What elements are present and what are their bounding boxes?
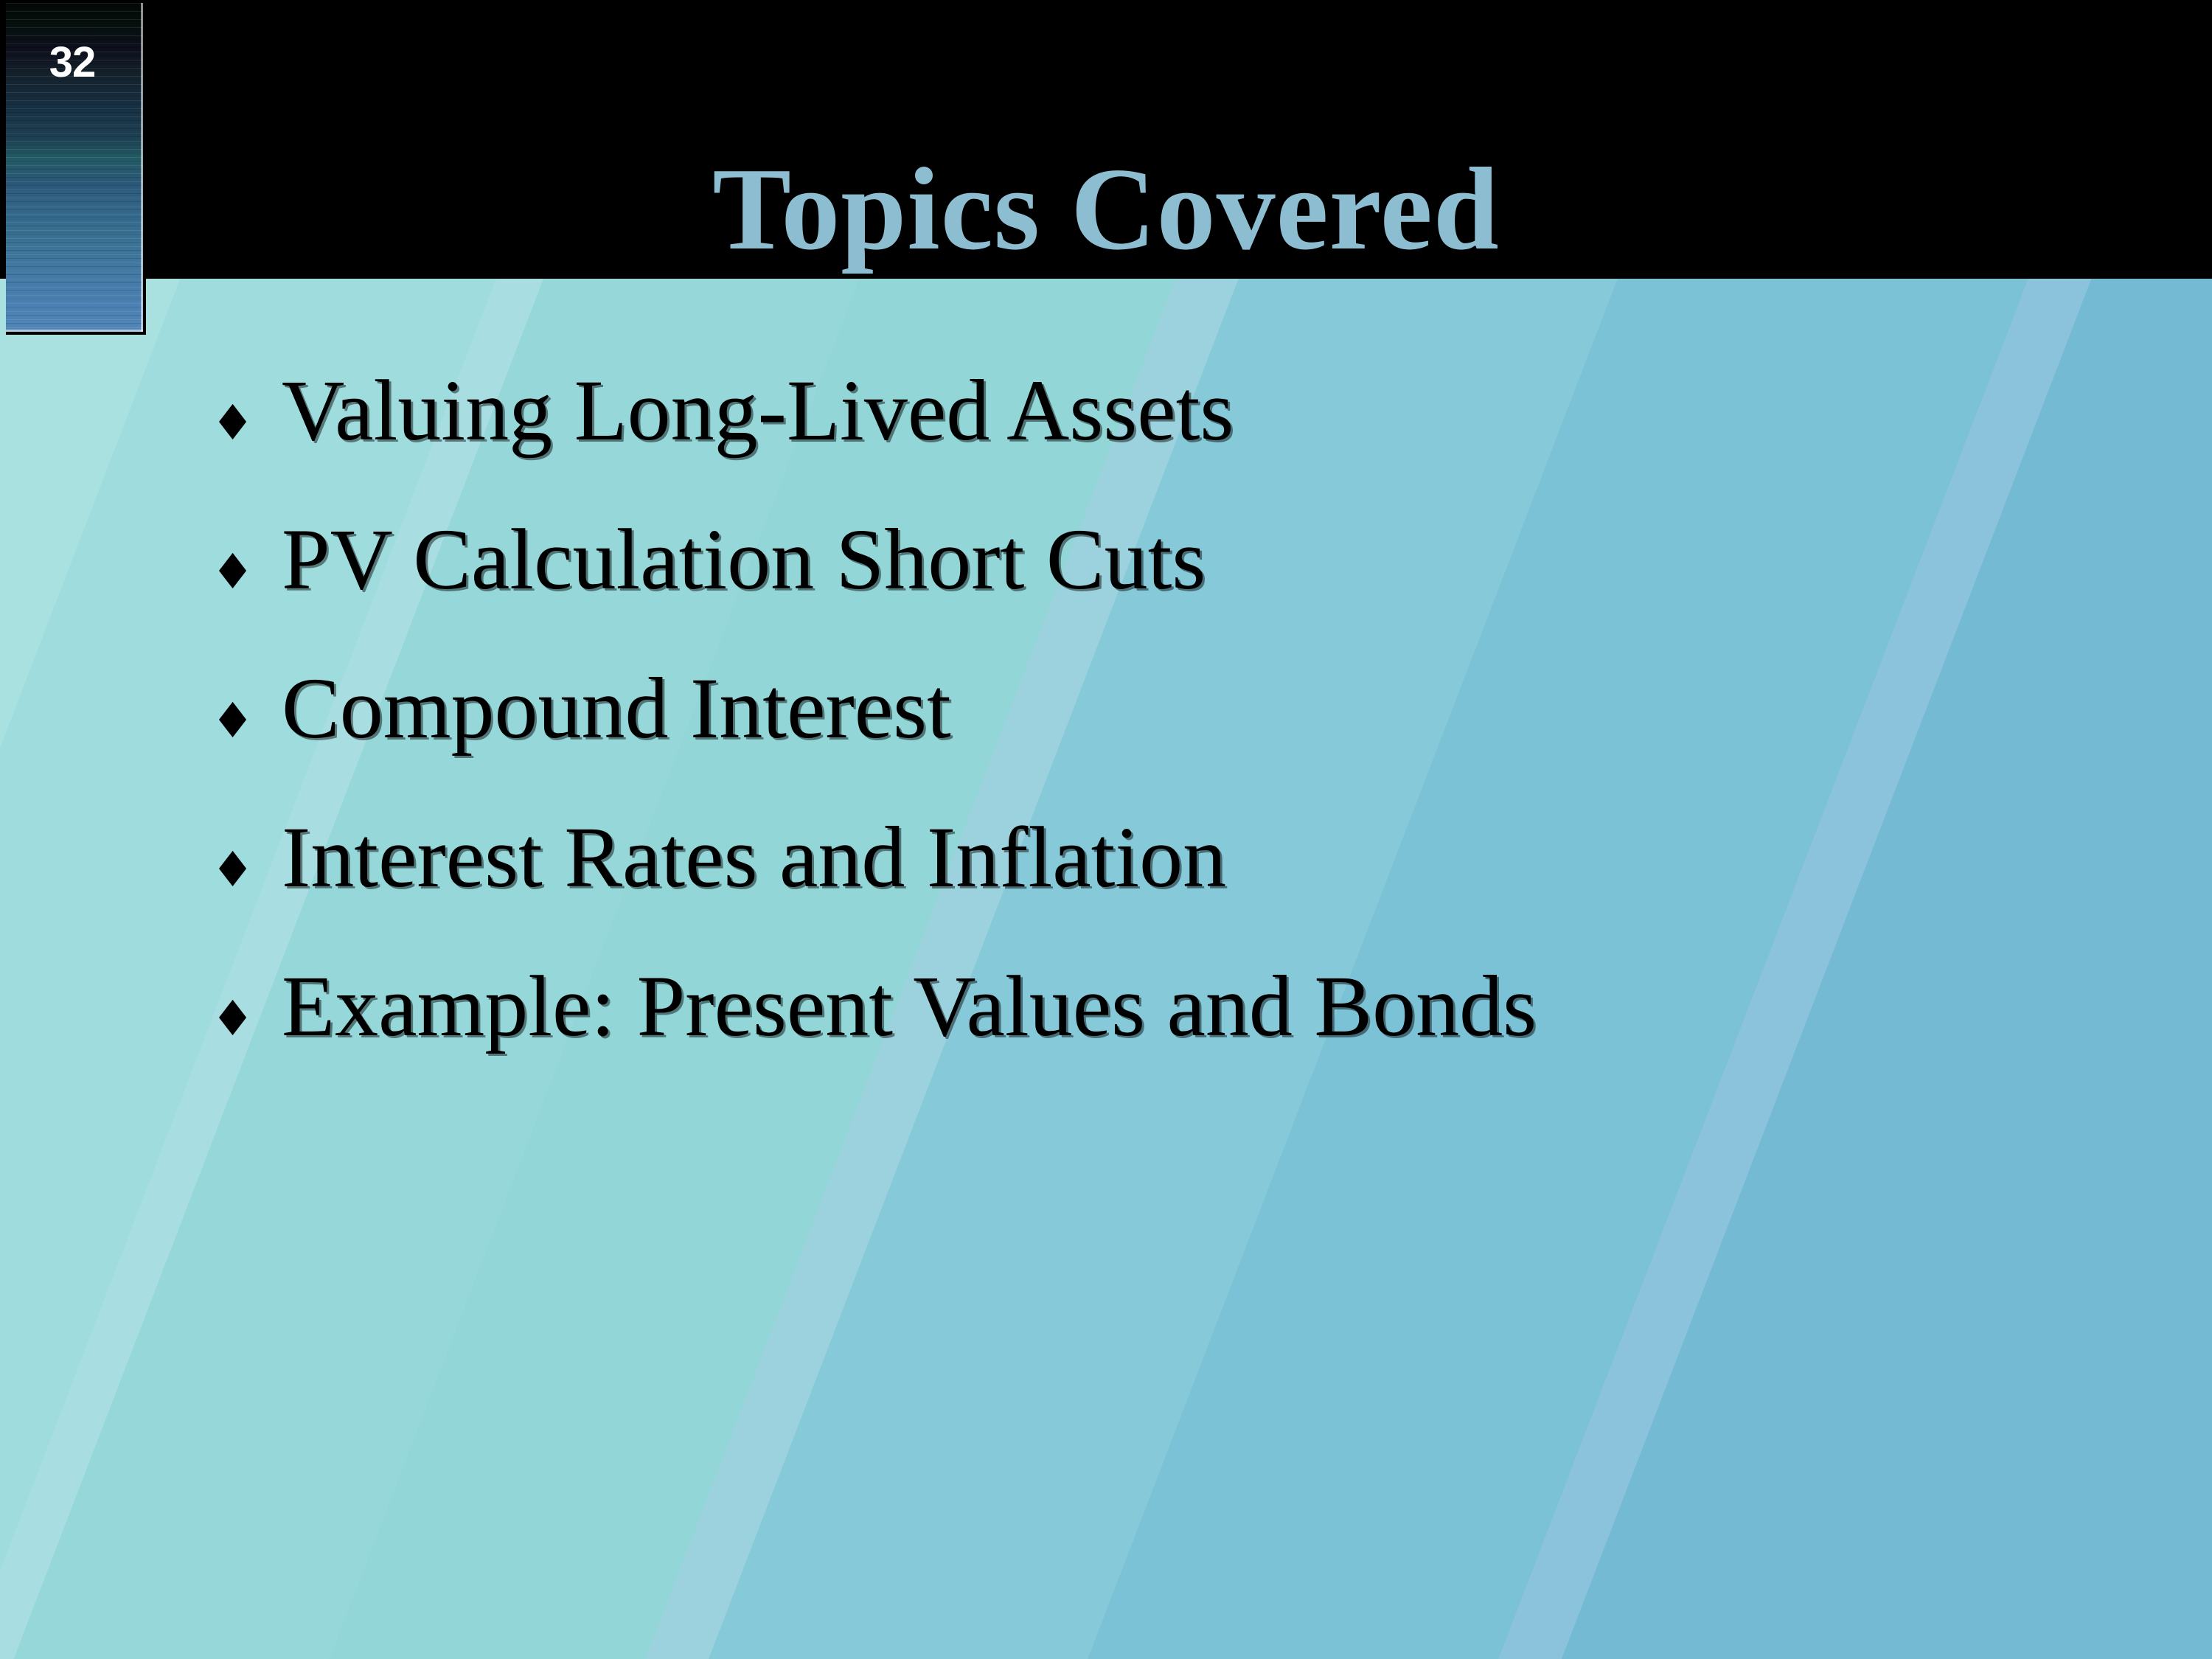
list-item-label: Compound Interest — [282, 665, 2128, 752]
diamond-bullet-icon: ♦ — [211, 995, 282, 1043]
list-item: ♦ Example: Present Values and Bonds — [211, 963, 2128, 1112]
list-item-label: Interest Rates and Inflation — [282, 814, 2128, 901]
list-item: ♦ Valuing Long-Lived Assets — [211, 367, 2128, 516]
diamond-bullet-icon: ♦ — [211, 399, 282, 448]
diamond-bullet-icon: ♦ — [211, 548, 282, 597]
badge-edge-highlight-bottom — [6, 330, 143, 332]
list-item: ♦ Compound Interest — [211, 665, 2128, 814]
diamond-bullet-icon: ♦ — [211, 846, 282, 894]
slide-number-label: 32 — [6, 41, 139, 84]
badge-edge-highlight-right — [141, 3, 143, 332]
list-item-label: Valuing Long-Lived Assets — [282, 367, 2128, 454]
list-item: ♦ PV Calculation Short Cuts — [211, 516, 2128, 665]
bullet-list: ♦ Valuing Long-Lived Assets ♦ PV Calcula… — [211, 367, 2128, 1112]
slide-number-badge: 32 — [6, 3, 146, 335]
list-item: ♦ Interest Rates and Inflation — [211, 814, 2128, 963]
presentation-slide: Topics Covered 32 ♦ Valuing Long-Lived A… — [0, 0, 2212, 1659]
page-title: Topics Covered — [0, 150, 2212, 268]
list-item-label: PV Calculation Short Cuts — [282, 516, 2128, 603]
diamond-bullet-icon: ♦ — [211, 697, 282, 745]
list-item-label: Example: Present Values and Bonds — [282, 963, 2128, 1050]
